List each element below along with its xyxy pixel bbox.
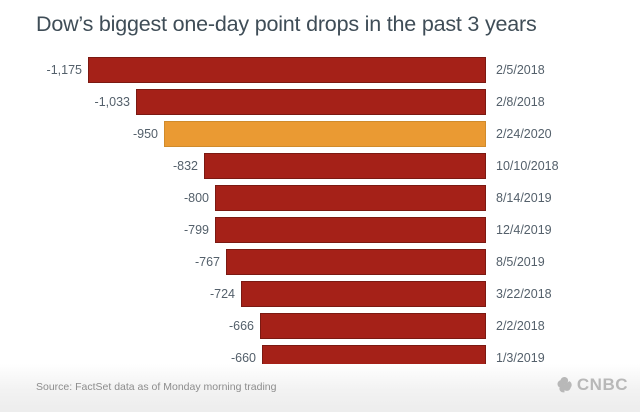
bar-row: -8008/14/2019	[0, 185, 640, 211]
bar-chart-plot-area: -1,1752/5/2018-1,0332/8/2018-9502/24/202…	[0, 52, 640, 364]
bar-category-label: 2/5/2018	[496, 57, 545, 83]
source-note: Source: FactSet data as of Monday mornin…	[36, 381, 276, 393]
bar-value-label: -800	[184, 185, 209, 211]
bar-value-label: -950	[133, 121, 158, 147]
bar	[136, 89, 486, 115]
nbc-peacock-icon	[556, 376, 573, 393]
bar-category-label: 10/10/2018	[496, 153, 559, 179]
bar-value-label: -1,033	[95, 89, 130, 115]
bar-row: -79912/4/2019	[0, 217, 640, 243]
chart-container: Dow’s biggest one-day point drops in the…	[0, 0, 640, 412]
bar-category-label: 8/14/2019	[496, 185, 552, 211]
bar-category-label: 3/22/2018	[496, 281, 552, 307]
bar	[241, 281, 486, 307]
bar-category-label: 2/2/2018	[496, 313, 545, 339]
bar	[260, 313, 486, 339]
cnbc-logo: CNBC	[556, 376, 628, 393]
bar	[215, 217, 486, 243]
bar-category-label: 8/5/2019	[496, 249, 545, 275]
bar-value-label: -799	[184, 217, 209, 243]
page-title: Dow’s biggest one-day point drops in the…	[36, 12, 616, 37]
bar-row: -6662/2/2018	[0, 313, 640, 339]
bar-category-label: 12/4/2019	[496, 217, 552, 243]
bar-category-label: 2/8/2018	[496, 89, 545, 115]
bar-row: -83210/10/2018	[0, 153, 640, 179]
bar	[226, 249, 486, 275]
cnbc-wordmark: CNBC	[577, 376, 628, 393]
bar-value-label: -767	[195, 249, 220, 275]
bar-row: -7678/5/2019	[0, 249, 640, 275]
bar-row: -1,1752/5/2018	[0, 57, 640, 83]
chart-footer: Source: FactSet data as of Monday mornin…	[0, 364, 640, 412]
bar-row: -1,0332/8/2018	[0, 89, 640, 115]
bar	[215, 185, 486, 211]
bar-value-label: -832	[173, 153, 198, 179]
bar-value-label: -1,175	[47, 57, 82, 83]
bar	[204, 153, 486, 179]
bar-value-label: -666	[229, 313, 254, 339]
bar-row: -7243/22/2018	[0, 281, 640, 307]
bar-value-label: -724	[210, 281, 235, 307]
bar	[88, 57, 486, 83]
bar-highlighted	[164, 121, 486, 147]
bar-row: -9502/24/2020	[0, 121, 640, 147]
bar-category-label: 2/24/2020	[496, 121, 552, 147]
